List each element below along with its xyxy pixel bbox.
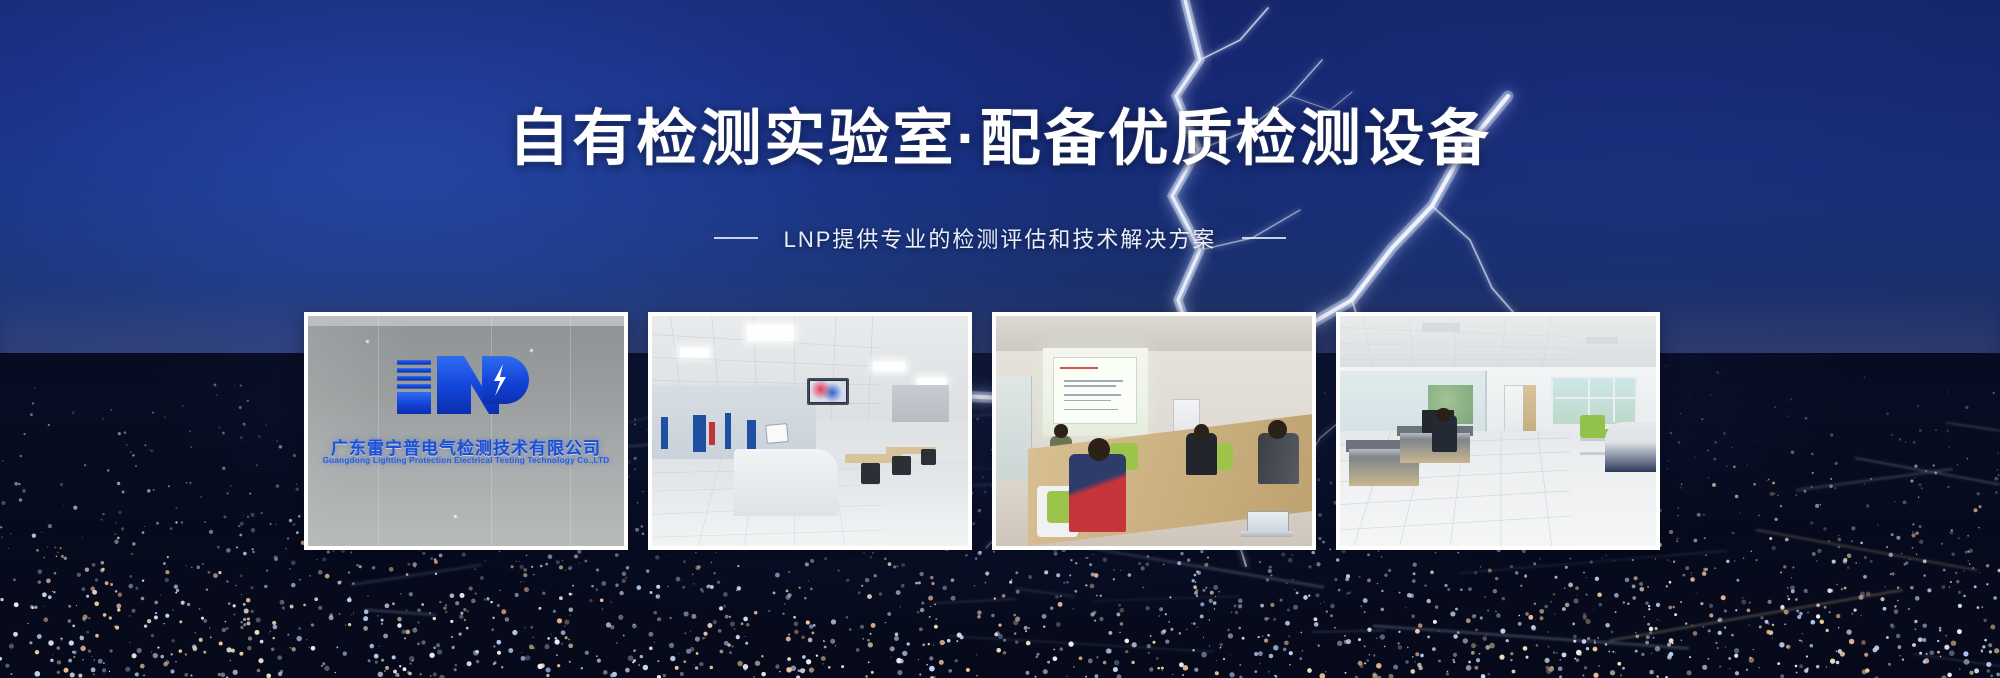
attendee (1258, 433, 1299, 484)
room-ceiling (996, 316, 1312, 351)
office-chair (861, 463, 880, 484)
wall-glint (365, 339, 370, 344)
photo-company-logo-wall: 广东雷宁普电气检测技术有限公司 Guangdong Lighting Prote… (308, 316, 624, 546)
office-chair (921, 449, 937, 465)
window-mullion (1555, 397, 1637, 399)
window-mullion (1613, 376, 1615, 422)
ceiling-light (917, 378, 945, 385)
monitor-screen (810, 381, 846, 402)
gallery-item-meeting-room[interactable] (992, 312, 1316, 550)
wall-panel-seam (570, 316, 571, 546)
ceiling-light (873, 362, 905, 371)
presentation-slide (1053, 357, 1137, 423)
banner-subtitle: LNP提供专业的检测评估和技术解决方案 (784, 222, 1217, 254)
presenter-head (1054, 424, 1067, 438)
test-rig (661, 417, 667, 449)
hero-banner: 自有检测实验室·配备优质检测设备 LNP提供专业的检测评估和技术解决方案 (0, 0, 2000, 678)
slide-text-line (1064, 409, 1118, 410)
slide-text-line (1064, 394, 1122, 395)
photo-testing-laboratory (652, 316, 968, 546)
photo-office-area (1340, 316, 1656, 546)
laptop-keyboard (1241, 531, 1293, 537)
test-rig (747, 420, 756, 450)
chair-frame (1580, 438, 1608, 441)
gallery-item-testing-laboratory[interactable] (648, 312, 972, 550)
photo-gallery: 广东雷宁普电气检测技术有限公司 Guangdong Lighting Prote… (304, 312, 1660, 550)
test-rig (693, 415, 706, 452)
ceiling-light (747, 325, 794, 341)
rule-right-icon (1242, 237, 1286, 239)
banner-headline: 自有检测实验室·配备优质检测设备 (0, 104, 2000, 172)
ceiling-light (680, 348, 708, 357)
attendee (1069, 454, 1126, 532)
ceiling-vent (1422, 323, 1460, 332)
glass-door (996, 376, 1032, 480)
wall-glint (453, 514, 458, 519)
slide-title-line (1060, 367, 1098, 369)
console-monitor (765, 423, 789, 444)
office-worker-head (1436, 408, 1450, 422)
slide-text-line (1064, 400, 1112, 401)
lab-duct (892, 385, 949, 422)
banner-subtitle-row: LNP提供专业的检测评估和技术解决方案 (0, 222, 2000, 254)
wall-top-trim (308, 316, 624, 326)
attendee-head (1088, 438, 1110, 461)
attendee-head (1268, 420, 1287, 440)
control-console (734, 449, 838, 516)
lnp-logo-icon (391, 350, 541, 422)
gallery-item-office-area[interactable] (1336, 312, 1660, 550)
test-rig (709, 422, 715, 445)
reception-counter (1605, 422, 1656, 473)
laptop-screen (1247, 511, 1289, 533)
slide-text-line (1064, 380, 1123, 381)
laptop (1241, 511, 1293, 537)
test-rig (725, 413, 731, 450)
rule-left-icon (714, 237, 758, 239)
wall-monitor (807, 378, 849, 405)
wall-panel-seam (378, 316, 379, 546)
photo-meeting-room (996, 316, 1312, 546)
ceiling-vent (1586, 337, 1618, 344)
office-chair (892, 456, 911, 474)
slide-text-line (1064, 385, 1117, 386)
window-mullion (1555, 376, 1637, 378)
chair-frame (1580, 452, 1608, 455)
logo-company-name-en: Guangdong Lighting Protection Electrical… (308, 456, 624, 465)
gallery-item-company-logo-wall[interactable]: 广东雷宁普电气检测技术有限公司 Guangdong Lighting Prote… (304, 312, 628, 550)
